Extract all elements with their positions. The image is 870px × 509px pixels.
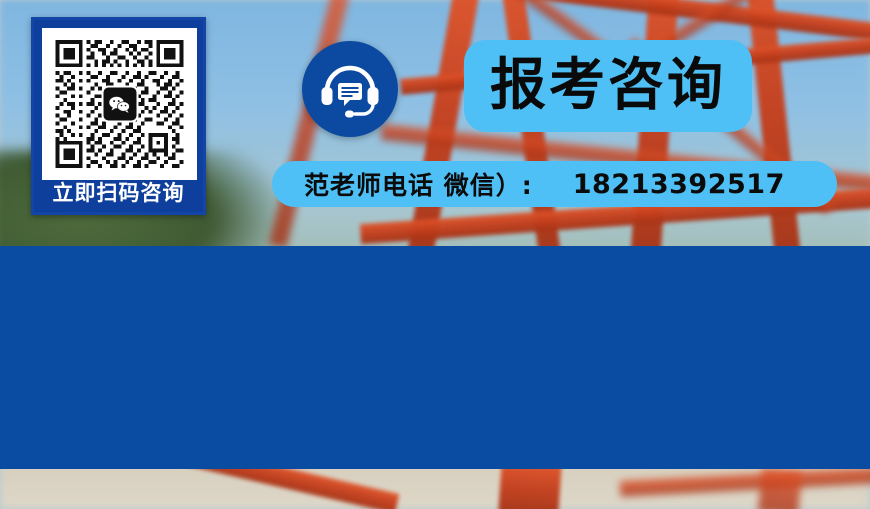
contact-label: 范老师电话 微信）: [304, 166, 533, 202]
contact-phone-number[interactable]: 18213392517 [573, 169, 785, 200]
wechat-icon [101, 86, 138, 123]
contact-pill[interactable]: 范老师电话 微信）: 18213392517 [272, 161, 837, 207]
service-categories-panel: 特种作业: 电工证、焊工证、高处作业证、制冷作业、安全员证等 特种设备: 叉车证… [0, 246, 870, 469]
headline-pill: 报考咨询 [464, 40, 752, 132]
qr-code-surface [42, 28, 197, 180]
headset-support-badge[interactable] [302, 41, 398, 137]
page-title: 报考咨询 [490, 58, 726, 114]
qr-caption: 立即扫码咨询 [34, 177, 203, 207]
wechat-icon-glyph [109, 95, 131, 113]
qr-code-card[interactable]: 立即扫码咨询 [31, 17, 206, 215]
headset-support-icon [319, 59, 381, 119]
promo-poster: 立即扫码咨询 报考咨询 范老师电话 微信）: 18213392517 [0, 0, 870, 509]
crane-base-beam [758, 468, 802, 509]
